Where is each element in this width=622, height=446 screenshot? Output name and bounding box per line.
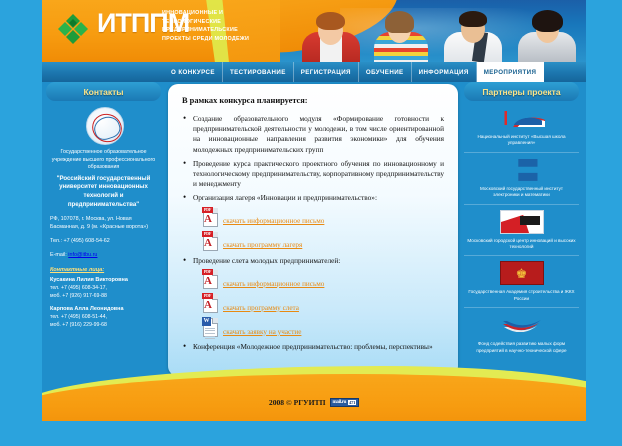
- bullet-text: Проведение курса практического проектног…: [193, 159, 444, 188]
- fond-logo-icon: [496, 312, 548, 338]
- pdf-badge-label: PDF: [202, 269, 213, 275]
- bullet-text: Организация лагеря «Инновации и предприн…: [193, 193, 377, 202]
- university-email-row: E-mail: info@itbu.ru: [46, 251, 161, 259]
- download-link[interactable]: скачать информационное письмо: [223, 279, 324, 290]
- gasis-logo-icon: ♚: [496, 260, 548, 286]
- bullet-text: Проведение слета молодых предпринимателе…: [193, 256, 340, 265]
- miem-logo-icon: [496, 157, 548, 183]
- download-row[interactable]: PDF A скачать программу лагеря: [201, 230, 444, 252]
- nav-item-o-konkurse[interactable]: О КОНКУРСЕ: [164, 62, 223, 82]
- contact-person-2-phone: тел. +7 (495) 608-51-44,: [50, 313, 157, 321]
- partner-name: Национальный институт «Высшая школа упра…: [477, 134, 565, 145]
- partner-item[interactable]: Московский городской центр инноваций и в…: [464, 205, 579, 257]
- download-row[interactable]: PDF A скачать информационное письмо: [201, 268, 444, 290]
- list-item: Организация лагеря «Инновации и предприн…: [182, 193, 444, 251]
- content-heading: В рамках конкурса планируется:: [182, 96, 444, 105]
- counter-label: mail.ru: [333, 400, 347, 405]
- contacts-panel-title: Контакты: [46, 82, 161, 101]
- nav-item-registraciya[interactable]: РЕГИСТРАЦИЯ: [294, 62, 359, 82]
- partner-name: Московский государственный институт элек…: [480, 186, 563, 197]
- pdf-file-icon[interactable]: PDF A: [201, 230, 221, 252]
- email-label: E-mail:: [50, 252, 67, 258]
- university-name: "Российский государственный университет …: [46, 175, 161, 209]
- student-photo-4: [514, 10, 580, 62]
- contact-persons-block: Контактные лица: Кусакина Лилия Викторов…: [46, 266, 161, 329]
- list-item: Проведение слета молодых предпринимателе…: [182, 256, 444, 338]
- contact-person-2-mobile: моб. +7 (916) 229-99-68: [50, 321, 157, 329]
- logo-diamond-icon[interactable]: [56, 13, 90, 47]
- footer-wave-decoration: [42, 358, 586, 421]
- sidebar-right: Партнеры проекта Национальный институт «…: [464, 82, 582, 359]
- sidebar-left: Контакты Государственное образовательное…: [46, 82, 164, 329]
- nav-item-meropriyatiya[interactable]: МЕРОПРИЯТИЯ: [477, 62, 545, 82]
- pdf-badge-label: PDF: [202, 293, 213, 299]
- list-item: Создание образовательного модуля «Формир…: [182, 114, 444, 155]
- partner-name: Московский городской центр инноваций и в…: [467, 238, 575, 249]
- bullet-text: Создание образовательного модуля «Формир…: [193, 114, 444, 154]
- site-page: ИТППМ инновационные и технологические пр…: [42, 0, 586, 421]
- download-link[interactable]: скачать программу слета: [223, 303, 299, 314]
- partners-panel-title: Партнеры проекта: [464, 82, 579, 101]
- contact-persons-heading: Контактные лица:: [50, 266, 157, 274]
- download-row[interactable]: PDF A скачать программу слета: [201, 292, 444, 314]
- contact-person-2-name: Карпова Алла Леонидовна: [50, 305, 157, 313]
- word-file-icon[interactable]: W: [201, 316, 221, 338]
- university-prefix: Государственное образовательное учрежден…: [46, 149, 161, 172]
- partner-name: Фонд содействия развитию малых форм пред…: [476, 341, 566, 352]
- student-photo-2: [368, 10, 432, 62]
- download-link[interactable]: скачать информационное письмо: [223, 216, 324, 227]
- nav-item-obuchenie[interactable]: ОБУЧЕНИЕ: [359, 62, 412, 82]
- mgcivt-logo-icon: [496, 209, 548, 235]
- contact-person-1-name: Кусакина Лилия Викторовна: [50, 276, 157, 284]
- main-content-panel: В рамках конкурса планируется: Создание …: [168, 84, 458, 376]
- nivshu-logo-icon: [496, 105, 548, 131]
- list-item: Проведение курса практического проектног…: [182, 159, 444, 190]
- planned-activities-list: Создание образовательного модуля «Формир…: [182, 114, 444, 352]
- pdf-file-icon[interactable]: PDF A: [201, 206, 221, 228]
- bullet-text: Конференция «Молодежное предпринимательс…: [193, 342, 433, 351]
- nav-item-testirovanie[interactable]: ТЕСТИРОВАНИЕ: [223, 62, 294, 82]
- mailru-counter-badge[interactable]: mail.ru 471: [330, 398, 360, 407]
- partner-item[interactable]: ♚ Государственная Академия строительства…: [464, 256, 579, 308]
- partner-name: Государственная Академия строительства и…: [468, 289, 574, 300]
- header-photo-banner: [280, 0, 586, 62]
- site-tagline: инновационные и технологические предприн…: [162, 9, 267, 43]
- university-logo-icon: [86, 107, 124, 145]
- partner-item[interactable]: Фонд содействия развитию малых форм пред…: [464, 308, 579, 359]
- site-header: ИТППМ инновационные и технологические пр…: [42, 0, 586, 62]
- download-row[interactable]: PDF A скачать информационное письмо: [201, 206, 444, 228]
- partner-item[interactable]: Национальный институт «Высшая школа упра…: [464, 101, 579, 153]
- contact-person-2: Карпова Алла Леонидовна тел. +7 (495) 60…: [50, 305, 157, 329]
- pdf-badge-label: PDF: [202, 231, 213, 237]
- counter-value: 471: [348, 400, 356, 405]
- footer: 2008 © РГУИТП mail.ru 471: [42, 398, 586, 407]
- pdf-file-icon[interactable]: PDF A: [201, 268, 221, 290]
- list-item: Конференция «Молодежное предпринимательс…: [182, 342, 444, 352]
- footer-copyright: 2008 © РГУИТП: [269, 398, 326, 407]
- email-link[interactable]: info@itbu.ru: [68, 252, 97, 258]
- download-link[interactable]: скачать программу лагеря: [223, 240, 302, 251]
- pdf-file-icon[interactable]: PDF A: [201, 292, 221, 314]
- body-area: Контакты Государственное образовательное…: [42, 82, 586, 378]
- page-bottom-strip: [0, 421, 622, 446]
- download-row[interactable]: W скачать заявку на участие: [201, 316, 444, 338]
- contact-person-1-phone: тел. +7 (495) 608-34-17,: [50, 284, 157, 292]
- partner-item[interactable]: Московский государственный институт элек…: [464, 153, 579, 205]
- main-navigation: О КОНКУРСЕ ТЕСТИРОВАНИЕ РЕГИСТРАЦИЯ ОБУЧ…: [42, 62, 586, 82]
- university-address: РФ, 107078, г. Москва, ул. Новая Басманн…: [46, 215, 161, 231]
- contact-person-1-mobile: моб. +7 (926) 917-69-88: [50, 292, 157, 300]
- university-phone: Тел.: +7 (495) 608-54-62: [46, 237, 161, 245]
- pdf-badge-label: PDF: [202, 207, 213, 213]
- nav-spacer: [42, 62, 164, 82]
- nav-item-informaciya[interactable]: ИНФОРМАЦИЯ: [412, 62, 477, 82]
- download-link[interactable]: скачать заявку на участие: [223, 327, 301, 338]
- student-photo-3: [440, 10, 506, 62]
- contact-person-1: Кусакина Лилия Викторовна тел. +7 (495) …: [50, 276, 157, 300]
- student-photo-1: [298, 12, 364, 62]
- word-badge-label: W: [202, 317, 211, 326]
